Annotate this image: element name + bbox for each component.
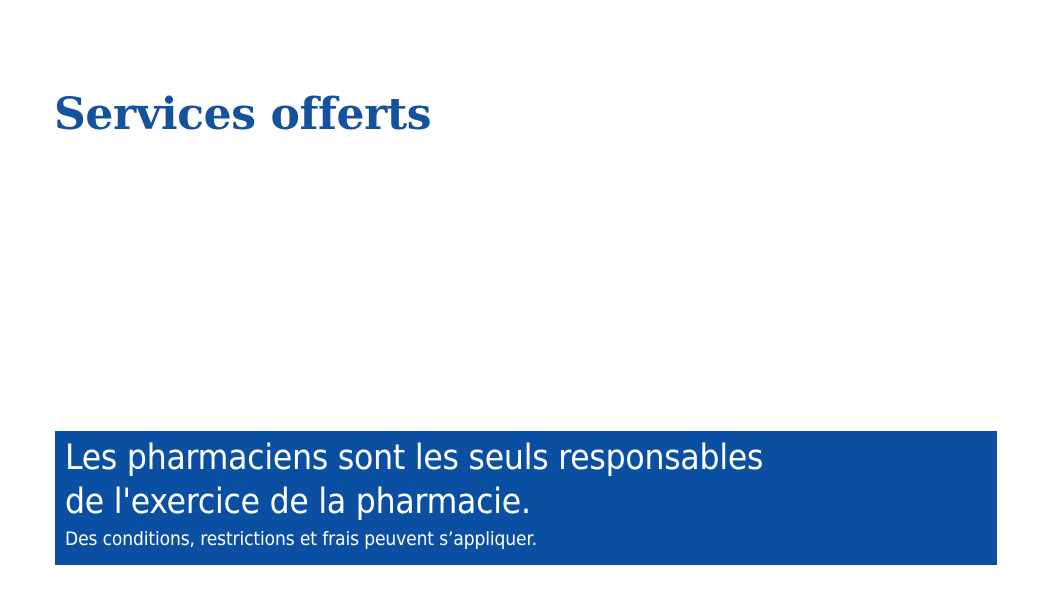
callout-heading-line-1: Les pharmaciens sont les seuls responsab…: [65, 436, 983, 480]
callout-subtext: Des conditions, restrictions et frais pe…: [65, 526, 983, 552]
callout-heading: Les pharmaciens sont les seuls responsab…: [65, 436, 983, 524]
slide-canvas: Services offerts Les pharmaciens sont le…: [0, 0, 1050, 600]
callout-banner: Les pharmaciens sont les seuls responsab…: [55, 431, 997, 565]
slide-content-placeholder: [55, 130, 997, 425]
callout-heading-line-2: de l'exercice de la pharmacie.: [65, 480, 983, 524]
